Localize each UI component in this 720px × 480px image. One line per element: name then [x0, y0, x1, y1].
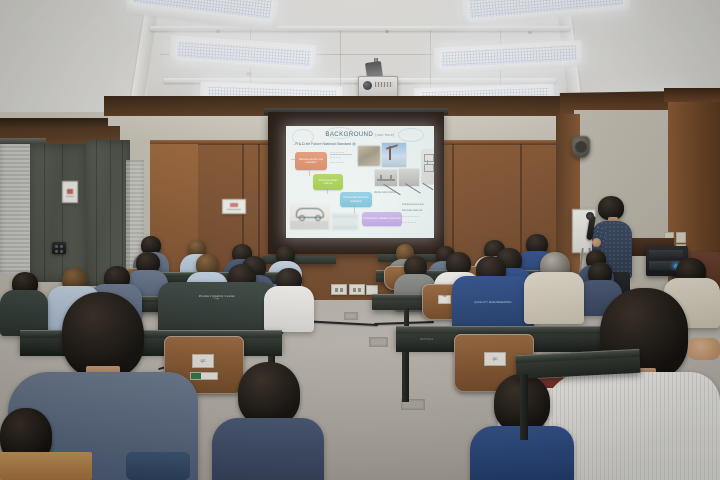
photo-rig-post	[390, 175, 392, 181]
curtain-pleat	[62, 144, 63, 282]
slide-caption-1: Vehicle body structure	[374, 192, 397, 194]
attendee-torso	[212, 418, 324, 480]
desk-leg	[402, 346, 409, 402]
slide-photo-sky	[382, 143, 406, 167]
attendee-torso	[264, 286, 314, 332]
slide-photo-rig	[375, 170, 397, 186]
wall-column-cap	[664, 88, 720, 102]
projector-vent	[375, 82, 393, 87]
fixture-dot-icon	[60, 245, 63, 248]
outlet-slot	[335, 288, 338, 292]
sign-line	[227, 209, 241, 210]
slide-note-3: — — — — —	[330, 162, 344, 164]
slide-note-1: — — — — —	[330, 152, 344, 154]
attendee-torso	[524, 272, 584, 324]
wall-outlet-plate	[349, 284, 365, 295]
chair-label-tag-2	[190, 372, 218, 380]
desk-foreground-edge	[0, 452, 92, 480]
notice-marking	[67, 189, 73, 194]
slide-box-2: Structural design analysis	[313, 174, 343, 190]
slide-photo-aerial	[358, 146, 380, 166]
ceiling-sensor	[385, 30, 389, 33]
slide-note-2: — — — —	[330, 157, 341, 159]
chair-label-tag: QC	[484, 352, 506, 366]
shirt-back-text: QUALITY ENGINEERING	[452, 300, 534, 304]
wall-notice-sheet	[62, 181, 78, 203]
sign-marking	[230, 203, 238, 207]
slide-photo-specimen	[399, 169, 419, 186]
attendee-hand	[688, 338, 720, 360]
slide-connector	[291, 159, 297, 160]
slide-title: BACKGROUND (con'tnue)	[286, 131, 434, 138]
slide-caption-5: — — — — —	[402, 222, 416, 224]
ceiling-sensor	[216, 30, 220, 33]
slide-connector	[354, 205, 355, 213]
desk-surface	[20, 330, 282, 338]
av-panel	[649, 250, 683, 258]
wall-curtain-panel-1	[30, 144, 86, 282]
curtain-pleat	[122, 140, 123, 286]
drawing-dimension-lines	[291, 221, 329, 229]
schematic-box	[424, 154, 434, 162]
schematic-link	[427, 160, 428, 164]
wall-mounted-speaker	[572, 136, 590, 158]
slide-caption-3: Full scale crash test	[402, 210, 422, 212]
attendee-torso-quality-engineering: QUALITY ENGINEERING	[452, 276, 534, 332]
presenter-hand	[592, 238, 601, 247]
slide-photo-schematic	[422, 150, 434, 184]
chair-label-tag: TW	[438, 295, 451, 304]
outlet-slot	[353, 288, 356, 292]
ceiling-sensor	[528, 31, 532, 34]
wall-sign	[222, 199, 246, 214]
slide-connector	[327, 188, 328, 194]
curtain-pleat	[96, 140, 97, 286]
ceiling-tray-seam-1	[150, 26, 570, 31]
slide-vehicle-drawing	[290, 204, 330, 230]
slide-dense-text-block	[332, 214, 358, 230]
slide-caption-2: Component level test	[402, 204, 424, 206]
floor-outlet-box	[344, 312, 358, 320]
speaker-grille-icon	[575, 141, 587, 153]
conference-room-photo: BACKGROUND (con'tnue) - R & D for Future…	[0, 0, 720, 480]
wall-outlet-plate	[331, 284, 347, 295]
wall-fixture-box	[52, 242, 66, 254]
microphone-head-icon	[586, 212, 594, 220]
slide-box-3: Process and assembly verification	[340, 192, 372, 207]
fixture-dot-icon	[60, 250, 63, 253]
fixture-dot-icon	[55, 245, 58, 248]
wall-trim-dark	[0, 118, 108, 127]
wall-curtain-panel-2	[86, 140, 130, 286]
fixture-dot-icon	[55, 250, 58, 253]
schematic-box	[424, 164, 434, 172]
desk-surface	[396, 326, 634, 334]
slide-connector	[309, 168, 310, 176]
floor-outlet-box	[369, 337, 388, 347]
photo-rig-post	[380, 175, 382, 181]
photo-crane-boom	[386, 144, 398, 150]
attendee-jeans	[126, 452, 190, 480]
slide-box-1: Material selection and evaluation	[295, 152, 327, 170]
notice-line	[66, 196, 74, 197]
slide-connector	[330, 154, 352, 155]
curtain-pleat	[110, 140, 111, 286]
attendee-head	[238, 362, 300, 426]
slide-subtitle: - R & D for Future National Standard @	[293, 142, 356, 146]
slide-box-4: Performance validation test result	[362, 212, 402, 226]
ceiling-sensor	[246, 72, 252, 76]
projector-lens-icon	[363, 81, 372, 90]
chair-label-tag: QC	[192, 354, 214, 368]
projected-slide: BACKGROUND (con'tnue) - R & D for Future…	[286, 126, 434, 238]
outlet-slot	[340, 288, 343, 292]
slide-caption-4: — — — — — —	[402, 216, 419, 218]
outlet-slot	[358, 288, 361, 292]
desk-leg	[520, 374, 528, 440]
curtain-pleat	[44, 144, 45, 282]
wall-plate	[676, 232, 686, 243]
